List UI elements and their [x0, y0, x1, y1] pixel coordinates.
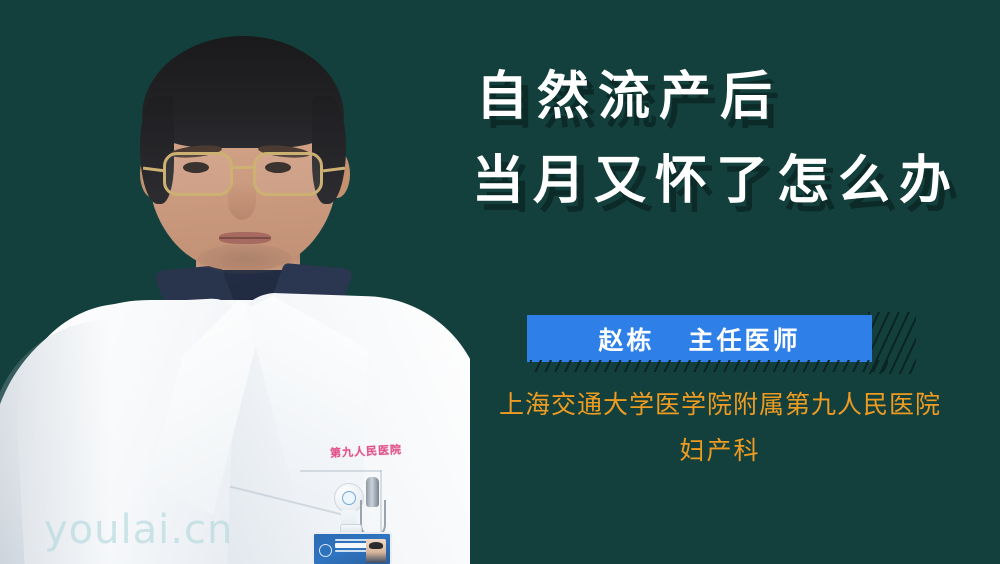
title-line-1: 自然流产后: [476, 55, 990, 139]
hospital-name: 上海交通大学医学院附属第九人民医院: [440, 382, 1000, 428]
eyeglasses-bridge: [233, 166, 253, 169]
doctor-credential-badge: 赵栋 主任医师: [527, 315, 872, 362]
title-line-2: 当月又怀了怎么办: [472, 139, 990, 223]
hospital-department: 妇产科: [440, 428, 1000, 474]
mouth-line: [219, 237, 271, 239]
pen-clip-icon: [366, 477, 379, 507]
eyeglasses-lens-right: [253, 152, 323, 196]
id-card: [312, 532, 392, 564]
doctor-title: 主任医师: [689, 321, 801, 357]
title-block: 自然流产后 当月又怀了怎么办: [470, 55, 990, 223]
id-card-hospital-logo-icon: [319, 544, 332, 557]
hospital-block: 上海交通大学医学院附属第九人民医院 妇产科: [440, 382, 1000, 474]
coat-pocket-seam: [300, 470, 382, 472]
chin-shading: [198, 244, 292, 274]
badge-reel-logo-icon: [342, 491, 356, 505]
doctor-portrait: 第九人民医院 youlai.cn: [0, 0, 470, 564]
doctor-name: 赵栋: [598, 321, 654, 357]
nose: [228, 182, 256, 220]
hatch-decoration-under-badge: [530, 360, 888, 372]
video-cover: 第九人民医院 youlai.cn 自然流产后 当月又怀了怎么办 赵栋 主任医师 …: [0, 0, 1000, 564]
eyeglasses-lens-left: [163, 152, 233, 196]
watermark: youlai.cn: [44, 507, 233, 553]
id-card-portrait-photo: [366, 539, 386, 563]
